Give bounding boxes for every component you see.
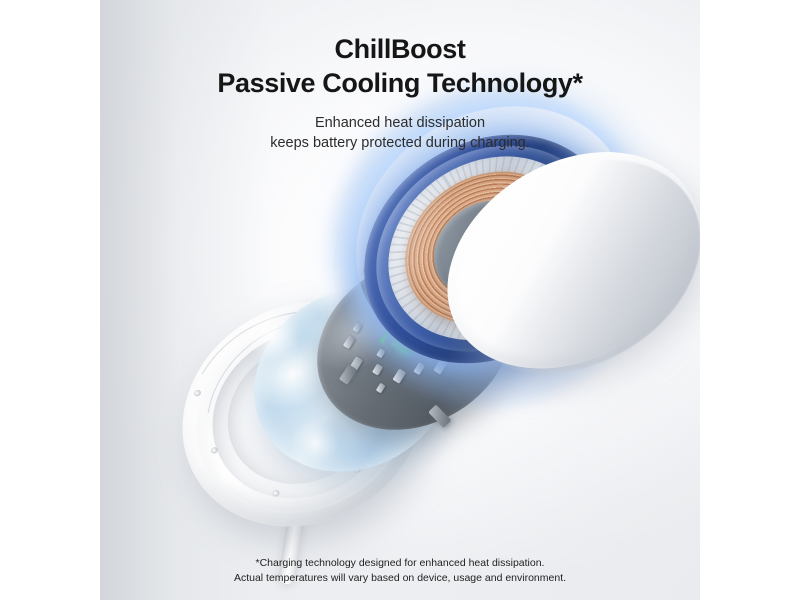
page-title: ChillBoost Passive Cooling Technology* xyxy=(100,0,700,100)
legal-footnote: *Charging technology designed for enhanc… xyxy=(100,556,700,586)
subheading-line-2: keeps battery protected during charging. xyxy=(100,133,700,153)
headline-block: ChillBoost Passive Cooling Technology* E… xyxy=(100,0,700,153)
footnote-line-2: Actual temperatures will vary based on d… xyxy=(100,571,700,586)
headline-line-1: ChillBoost xyxy=(335,34,466,64)
footnote-line-1: *Charging technology designed for enhanc… xyxy=(256,557,545,569)
product-feature-panel: ChillBoost Passive Cooling Technology* E… xyxy=(100,0,700,600)
headline-line-2: Passive Cooling Technology* xyxy=(100,66,700,100)
image-frame: ChillBoost Passive Cooling Technology* E… xyxy=(0,0,800,600)
subheading-line-1: Enhanced heat dissipation xyxy=(315,115,485,131)
subheading: Enhanced heat dissipation keeps battery … xyxy=(100,100,700,153)
